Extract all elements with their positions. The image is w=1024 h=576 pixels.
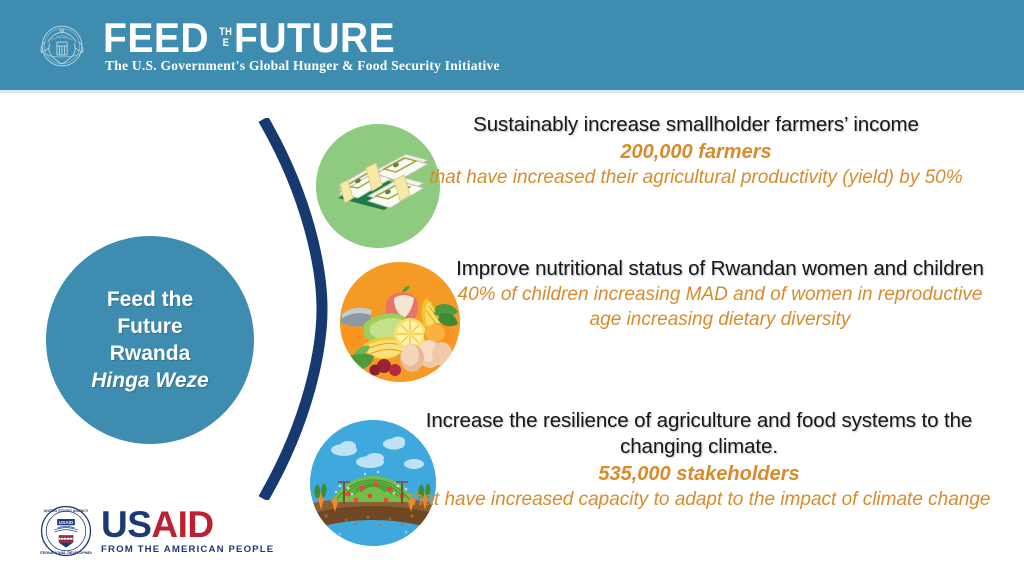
usaid-tagline: FROM THE AMERICAN PEOPLE	[101, 544, 274, 556]
header-tagline: The U.S. Government's Global Hunger & Fo…	[105, 58, 500, 74]
objective-heading: Increase the resilience of agriculture a…	[384, 408, 1014, 460]
objective-subtext: that have increased their agricultural p…	[386, 165, 1006, 190]
objective-highlight: 535,000 stakeholders	[384, 461, 1014, 487]
wordmark-future: FUTURE	[234, 16, 395, 60]
usaid-wordmark: USAID FROM THE AMERICAN PEOPLE	[101, 506, 274, 556]
objective-text-income: Sustainably increase smallholder farmers…	[386, 112, 1006, 190]
svg-text:UNITED STATES AGENCY: UNITED STATES AGENCY	[44, 509, 89, 513]
project-title-line-2: Future	[117, 313, 182, 340]
objective-subtext: that have increased capacity to adapt to…	[384, 487, 1014, 512]
objective-text-nutrition: Improve nutritional status of Rwandan wo…	[450, 256, 990, 332]
project-title-line-3: Rwanda	[110, 340, 191, 367]
usaid-letters: USAID	[101, 506, 274, 543]
svg-text:USAID: USAID	[59, 520, 74, 525]
slide-canvas: FEED TH E FUTURE The U.S. Government's G…	[0, 0, 1024, 576]
project-title-circle: Feed the Future Rwanda Hinga Weze	[46, 236, 254, 444]
objective-heading: Improve nutritional status of Rwandan wo…	[450, 256, 990, 282]
header-divider	[0, 90, 1024, 93]
usaid-logo: UNITED STATES AGENCY INTERNATIONAL DEVEL…	[40, 505, 274, 557]
project-title-line-1: Feed the	[107, 286, 193, 313]
objective-row-income: Sustainably increase smallholder farmers…	[316, 112, 1016, 190]
feed-the-future-wordmark: FEED TH E FUTURE	[103, 16, 408, 60]
objective-row-resilience: Increase the resilience of agriculture a…	[310, 408, 1020, 512]
us-great-seal-eagle-icon	[28, 14, 96, 78]
project-title-line-4: Hinga Weze	[91, 367, 208, 394]
usaid-us: US	[101, 504, 151, 545]
objective-text-resilience: Increase the resilience of agriculture a…	[384, 408, 1014, 512]
objective-highlight: 200,000 farmers	[386, 139, 1006, 165]
usaid-aid: AID	[151, 504, 213, 545]
usaid-official-seal-icon: UNITED STATES AGENCY INTERNATIONAL DEVEL…	[40, 505, 92, 557]
wordmark-the-line2: E	[222, 38, 228, 50]
objective-row-nutrition: Improve nutritional status of Rwandan wo…	[340, 256, 1000, 332]
objective-subtext: 40% of children increasing MAD and of wo…	[450, 282, 990, 332]
objective-heading: Sustainably increase smallholder farmers…	[386, 112, 1006, 138]
svg-text:INTERNATIONAL DEVELOPMENT: INTERNATIONAL DEVELOPMENT	[40, 551, 92, 555]
wordmark-feed: FEED	[103, 16, 209, 60]
nutrition-food-basket-icon	[340, 262, 460, 382]
wordmark-the-stack: TH E	[218, 16, 233, 58]
